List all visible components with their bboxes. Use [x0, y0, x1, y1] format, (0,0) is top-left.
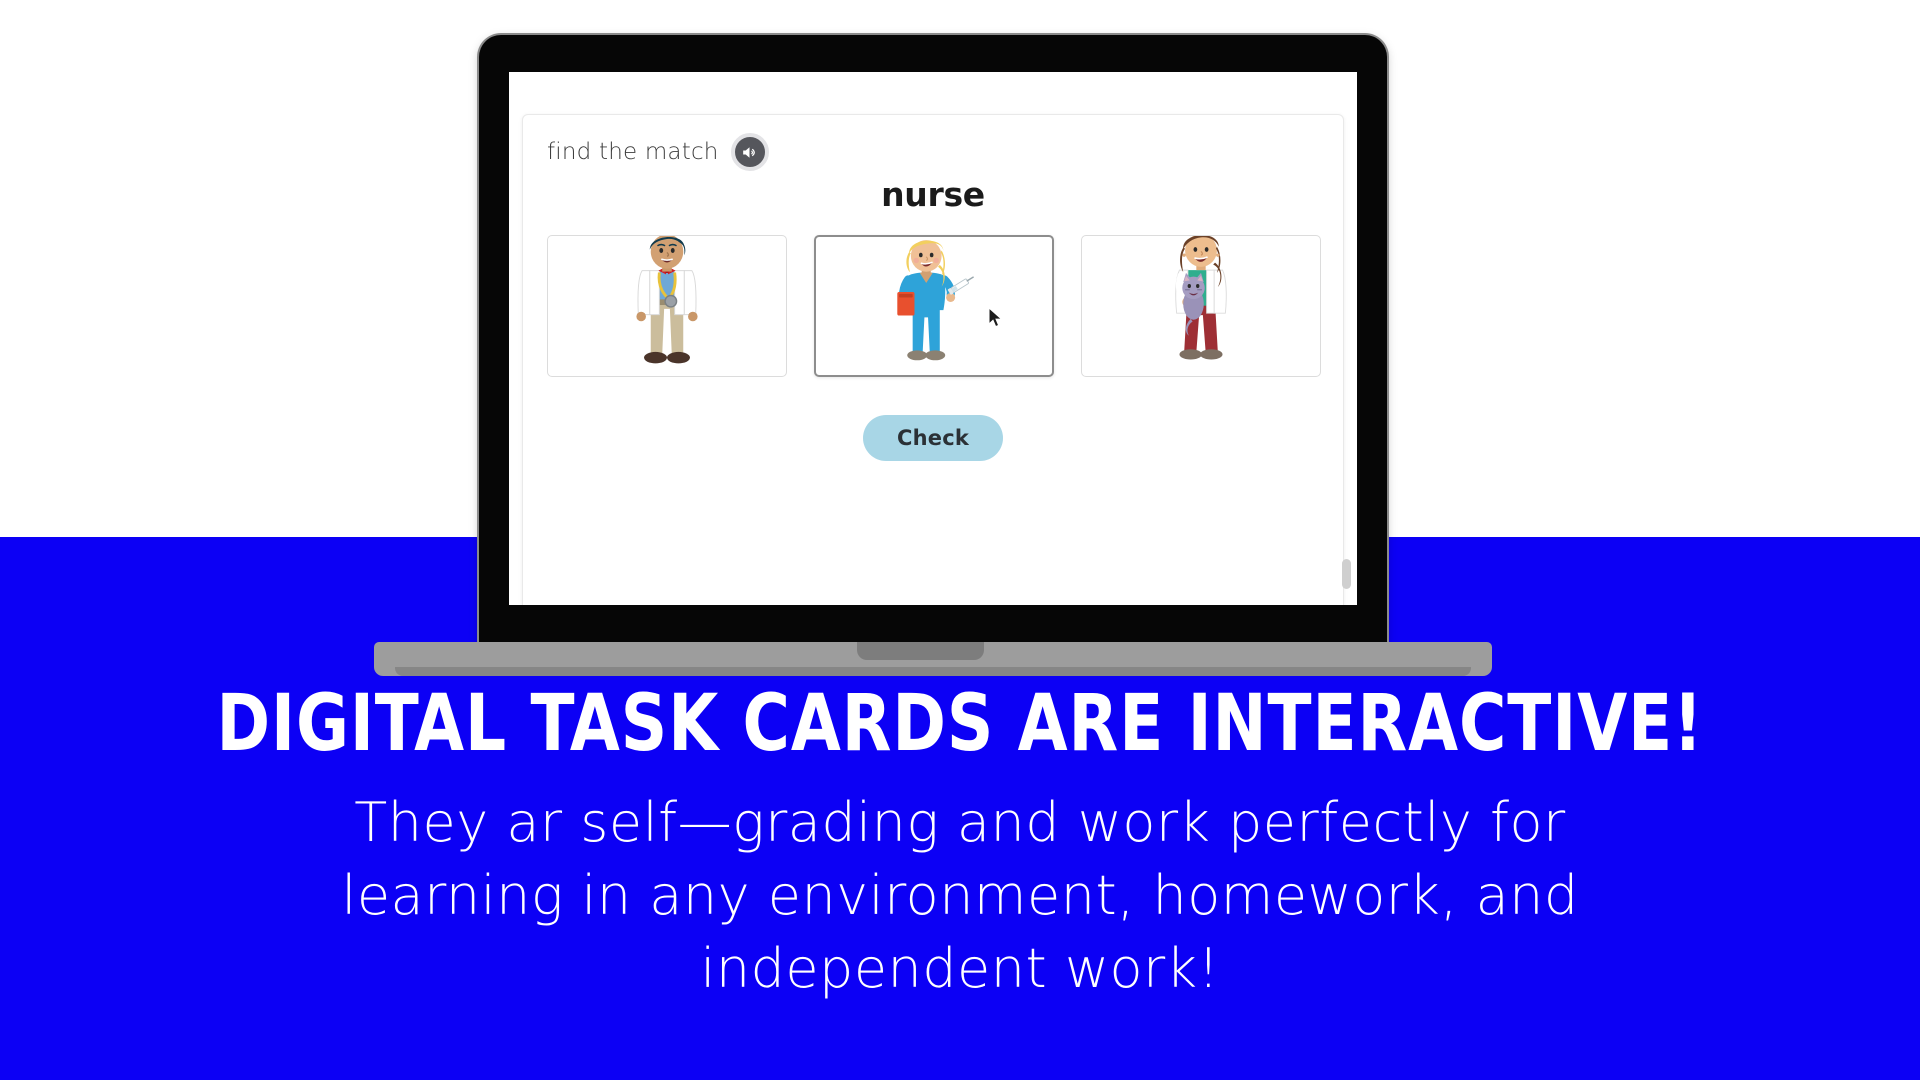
check-button[interactable]: Check: [863, 415, 1003, 461]
answer-choice-veterinarian[interactable]: [1081, 235, 1321, 377]
speaker-volume-icon: [740, 143, 759, 162]
prompt-label: find the match: [547, 139, 719, 165]
answer-choice-nurse[interactable]: [814, 235, 1054, 377]
audio-play-button[interactable]: [731, 133, 769, 171]
answer-choices-row: [547, 235, 1321, 377]
check-button-row: Check: [523, 415, 1343, 461]
laptop-screen: find the match nurse: [509, 72, 1357, 605]
promo-text-block: DIGITAL TASK CARDS ARE INTERACTIVE! They…: [0, 680, 1920, 1005]
answer-choice-doctor[interactable]: [547, 235, 787, 377]
nurse-illustration: [816, 237, 1052, 375]
veterinarian-illustration: [1082, 236, 1320, 376]
target-word: nurse: [523, 175, 1343, 214]
app-surface: find the match nurse: [509, 72, 1357, 605]
scrollbar-thumb[interactable]: [1342, 559, 1351, 589]
promo-body-text: They ar self—grading and work perfectly …: [0, 786, 1920, 1005]
task-card-panel: find the match nurse: [522, 114, 1344, 605]
laptop-base-notch: [857, 642, 984, 660]
task-card-header: find the match: [547, 133, 769, 171]
laptop-base-shadow: [395, 667, 1471, 676]
doctor-illustration: [548, 236, 786, 376]
promo-headline: DIGITAL TASK CARDS ARE INTERACTIVE!: [77, 680, 1843, 768]
laptop-mockup: find the match nurse: [0, 0, 1920, 680]
